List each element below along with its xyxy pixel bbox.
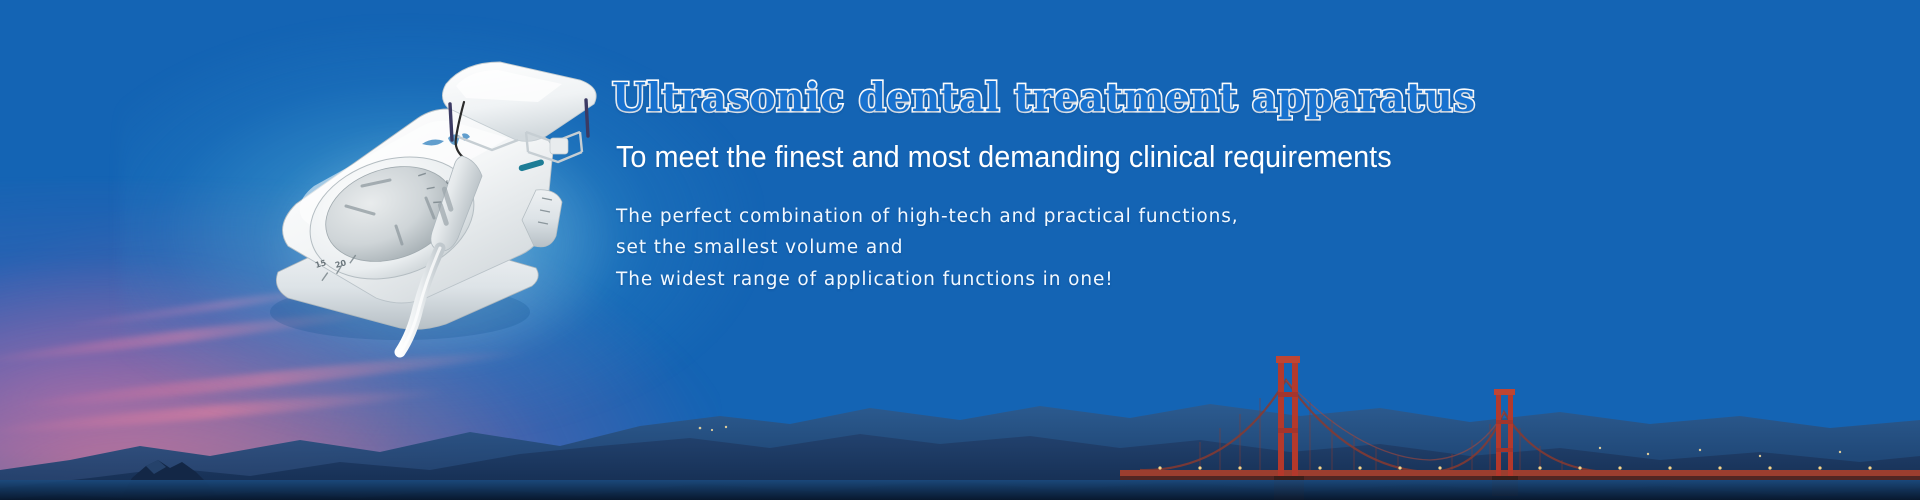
bay-water [0,480,1920,500]
banner-body-text: The perfect combination of high-tech and… [616,201,1372,296]
page-title: Ultrasonic dental treatment apparatus [612,78,1372,119]
banner-copy: Ultrasonic dental treatment apparatus To… [612,78,1372,296]
body-line-1: The perfect combination of high-tech and… [616,201,1372,233]
banner-subheading: To meet the finest and most demanding cl… [616,139,1319,175]
body-line-2: set the smallest volume and [616,232,1372,264]
promo-banner: 20 15 10 5 [0,0,1920,500]
product-image-ultrasonic-scaler: 20 15 10 5 [250,40,610,360]
rack-block [550,138,568,154]
bridge-deck [1120,470,1920,476]
body-line-3: The widest range of application function… [616,264,1372,296]
bridge-deck-shadow [1120,476,1920,480]
